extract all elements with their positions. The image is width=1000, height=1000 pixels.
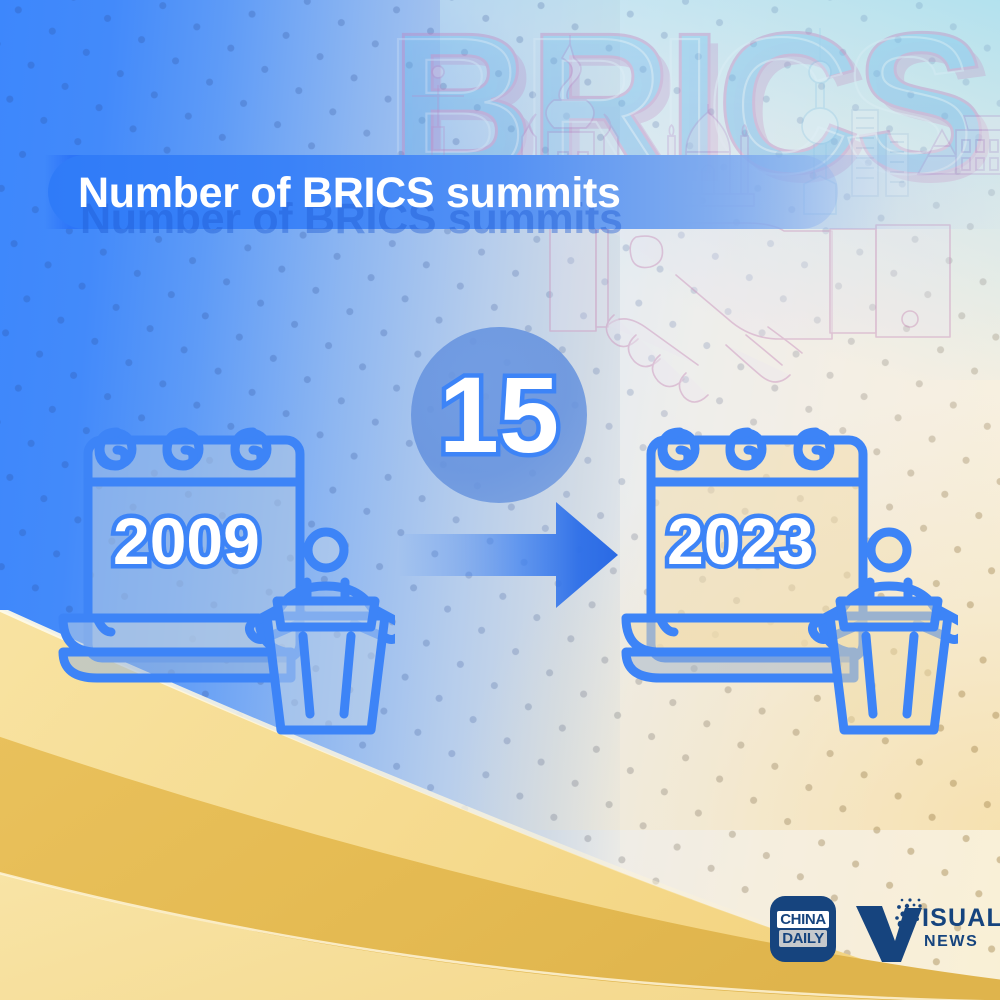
page-title: Number of BRICS summits — [78, 158, 621, 228]
year-label-to: 2023 — [667, 508, 814, 574]
year-label-from: 2009 — [113, 508, 260, 574]
china-daily-line1: CHINA — [777, 911, 829, 928]
calendar-ballot-icon-2009 — [55, 420, 395, 740]
summit-count-value: 15 — [411, 327, 587, 503]
visual-news-sub: NEWS — [924, 933, 1000, 951]
infographic-canvas: BRICS BRICS BRICS — [0, 0, 1000, 1000]
china-daily-line2: DAILY — [779, 930, 827, 947]
right-arrow-icon — [398, 492, 618, 617]
visual-news-word: ISUAL — [922, 905, 1000, 931]
calendar-ballot-icon-2023 — [618, 420, 958, 740]
visual-news-v-mark — [852, 894, 926, 964]
visual-news-wordmark: ISUAL NEWS — [922, 894, 1000, 951]
china-daily-logo: CHINA DAILY — [770, 896, 836, 962]
footer-logos: CHINA DAILY ISUAL NEWS — [770, 893, 1000, 965]
visual-news-logo: ISUAL NEWS — [852, 894, 1000, 964]
